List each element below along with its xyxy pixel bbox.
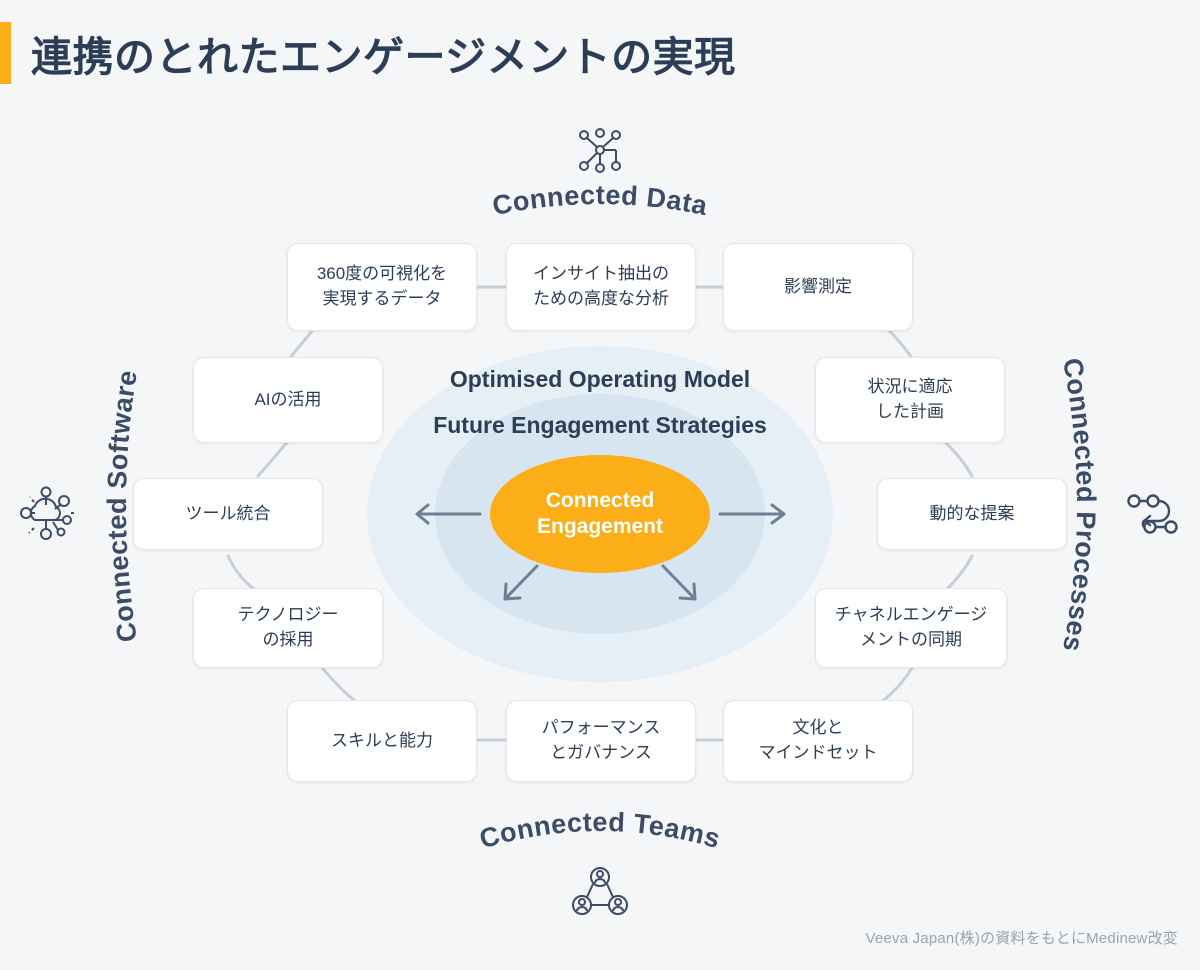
node-box-n4[interactable]: 状況に適応 した計画: [815, 357, 1005, 443]
node-box-n2[interactable]: インサイト抽出の ための高度な分析: [506, 243, 696, 331]
node-line: メントの同期: [835, 628, 988, 653]
node-line: ための高度な分析: [533, 287, 669, 312]
node-box-n7[interactable]: 文化と マインドセット: [723, 700, 913, 782]
node-box-n3[interactable]: 影響測定: [723, 243, 913, 331]
node-box-n5[interactable]: 動的な提案: [877, 478, 1067, 550]
node-line: スキルと能力: [331, 729, 433, 754]
quadrant-label-data: Connected Data: [420, 170, 780, 240]
page-title: 連携のとれたエンゲージメントの実現: [31, 23, 736, 83]
node-line: 影響測定: [784, 275, 852, 300]
node-line: AIの活用: [254, 388, 321, 413]
node-line: とガバナンス: [542, 741, 661, 766]
process-flow-icon: [1126, 490, 1184, 538]
people-network-icon: [572, 866, 628, 916]
footer-credit: Veeva Japan(株)の資料をもとにMedinew改変: [866, 927, 1178, 948]
network-nodes-icon: [574, 126, 626, 174]
node-line: パフォーマンス: [542, 716, 661, 741]
quadrant-label-data-text: Connected Data: [490, 180, 711, 221]
node-line: 360度の可視化を: [317, 262, 447, 287]
node-line: テクノロジー: [238, 603, 339, 628]
node-box-n1[interactable]: 360度の可視化を 実現するデータ: [287, 243, 477, 331]
node-box-n12[interactable]: AIの活用: [193, 357, 383, 443]
node-line: ツール統合: [186, 502, 271, 527]
node-box-n10[interactable]: テクノロジー の採用: [193, 588, 383, 668]
node-box-n8[interactable]: パフォーマンス とガバナンス: [506, 700, 696, 782]
node-box-n9[interactable]: スキルと能力: [287, 700, 477, 782]
node-line: の採用: [238, 628, 339, 653]
node-line: マインドセット: [759, 741, 878, 766]
accent-bar: [0, 22, 11, 84]
node-box-n6[interactable]: チャネルエンゲージ メントの同期: [815, 588, 1007, 668]
cloud-network-icon: [14, 482, 78, 544]
quadrant-label-teams-text: Connected Teams: [476, 807, 724, 854]
node-line: チャネルエンゲージ: [835, 603, 988, 628]
center-hub-line2: Engagement: [537, 515, 663, 538]
svg-text:Connected Teams: Connected Teams: [476, 807, 724, 854]
node-line: 動的な提案: [930, 502, 1015, 527]
node-line: インサイト抽出の: [533, 262, 669, 287]
quadrant-label-teams: Connected Teams: [420, 800, 780, 870]
center-hub[interactable]: Connected Engagement: [490, 455, 710, 573]
infographic-page: 連携のとれたエンゲージメントの実現: [0, 0, 1200, 970]
center-caption-line2: Future Engagement Strategies: [0, 412, 1200, 439]
svg-text:Connected Data: Connected Data: [490, 180, 711, 221]
center-hub-line1: Connected: [546, 489, 655, 512]
node-line: 状況に適応: [868, 375, 953, 400]
node-line: した計画: [868, 400, 953, 425]
node-line: 文化と: [759, 716, 878, 741]
page-header: 連携のとれたエンゲージメントの実現: [0, 22, 736, 84]
center-caption-line1: Optimised Operating Model: [0, 366, 1200, 393]
node-box-n11[interactable]: ツール統合: [133, 478, 323, 550]
node-line: 実現するデータ: [317, 287, 447, 312]
